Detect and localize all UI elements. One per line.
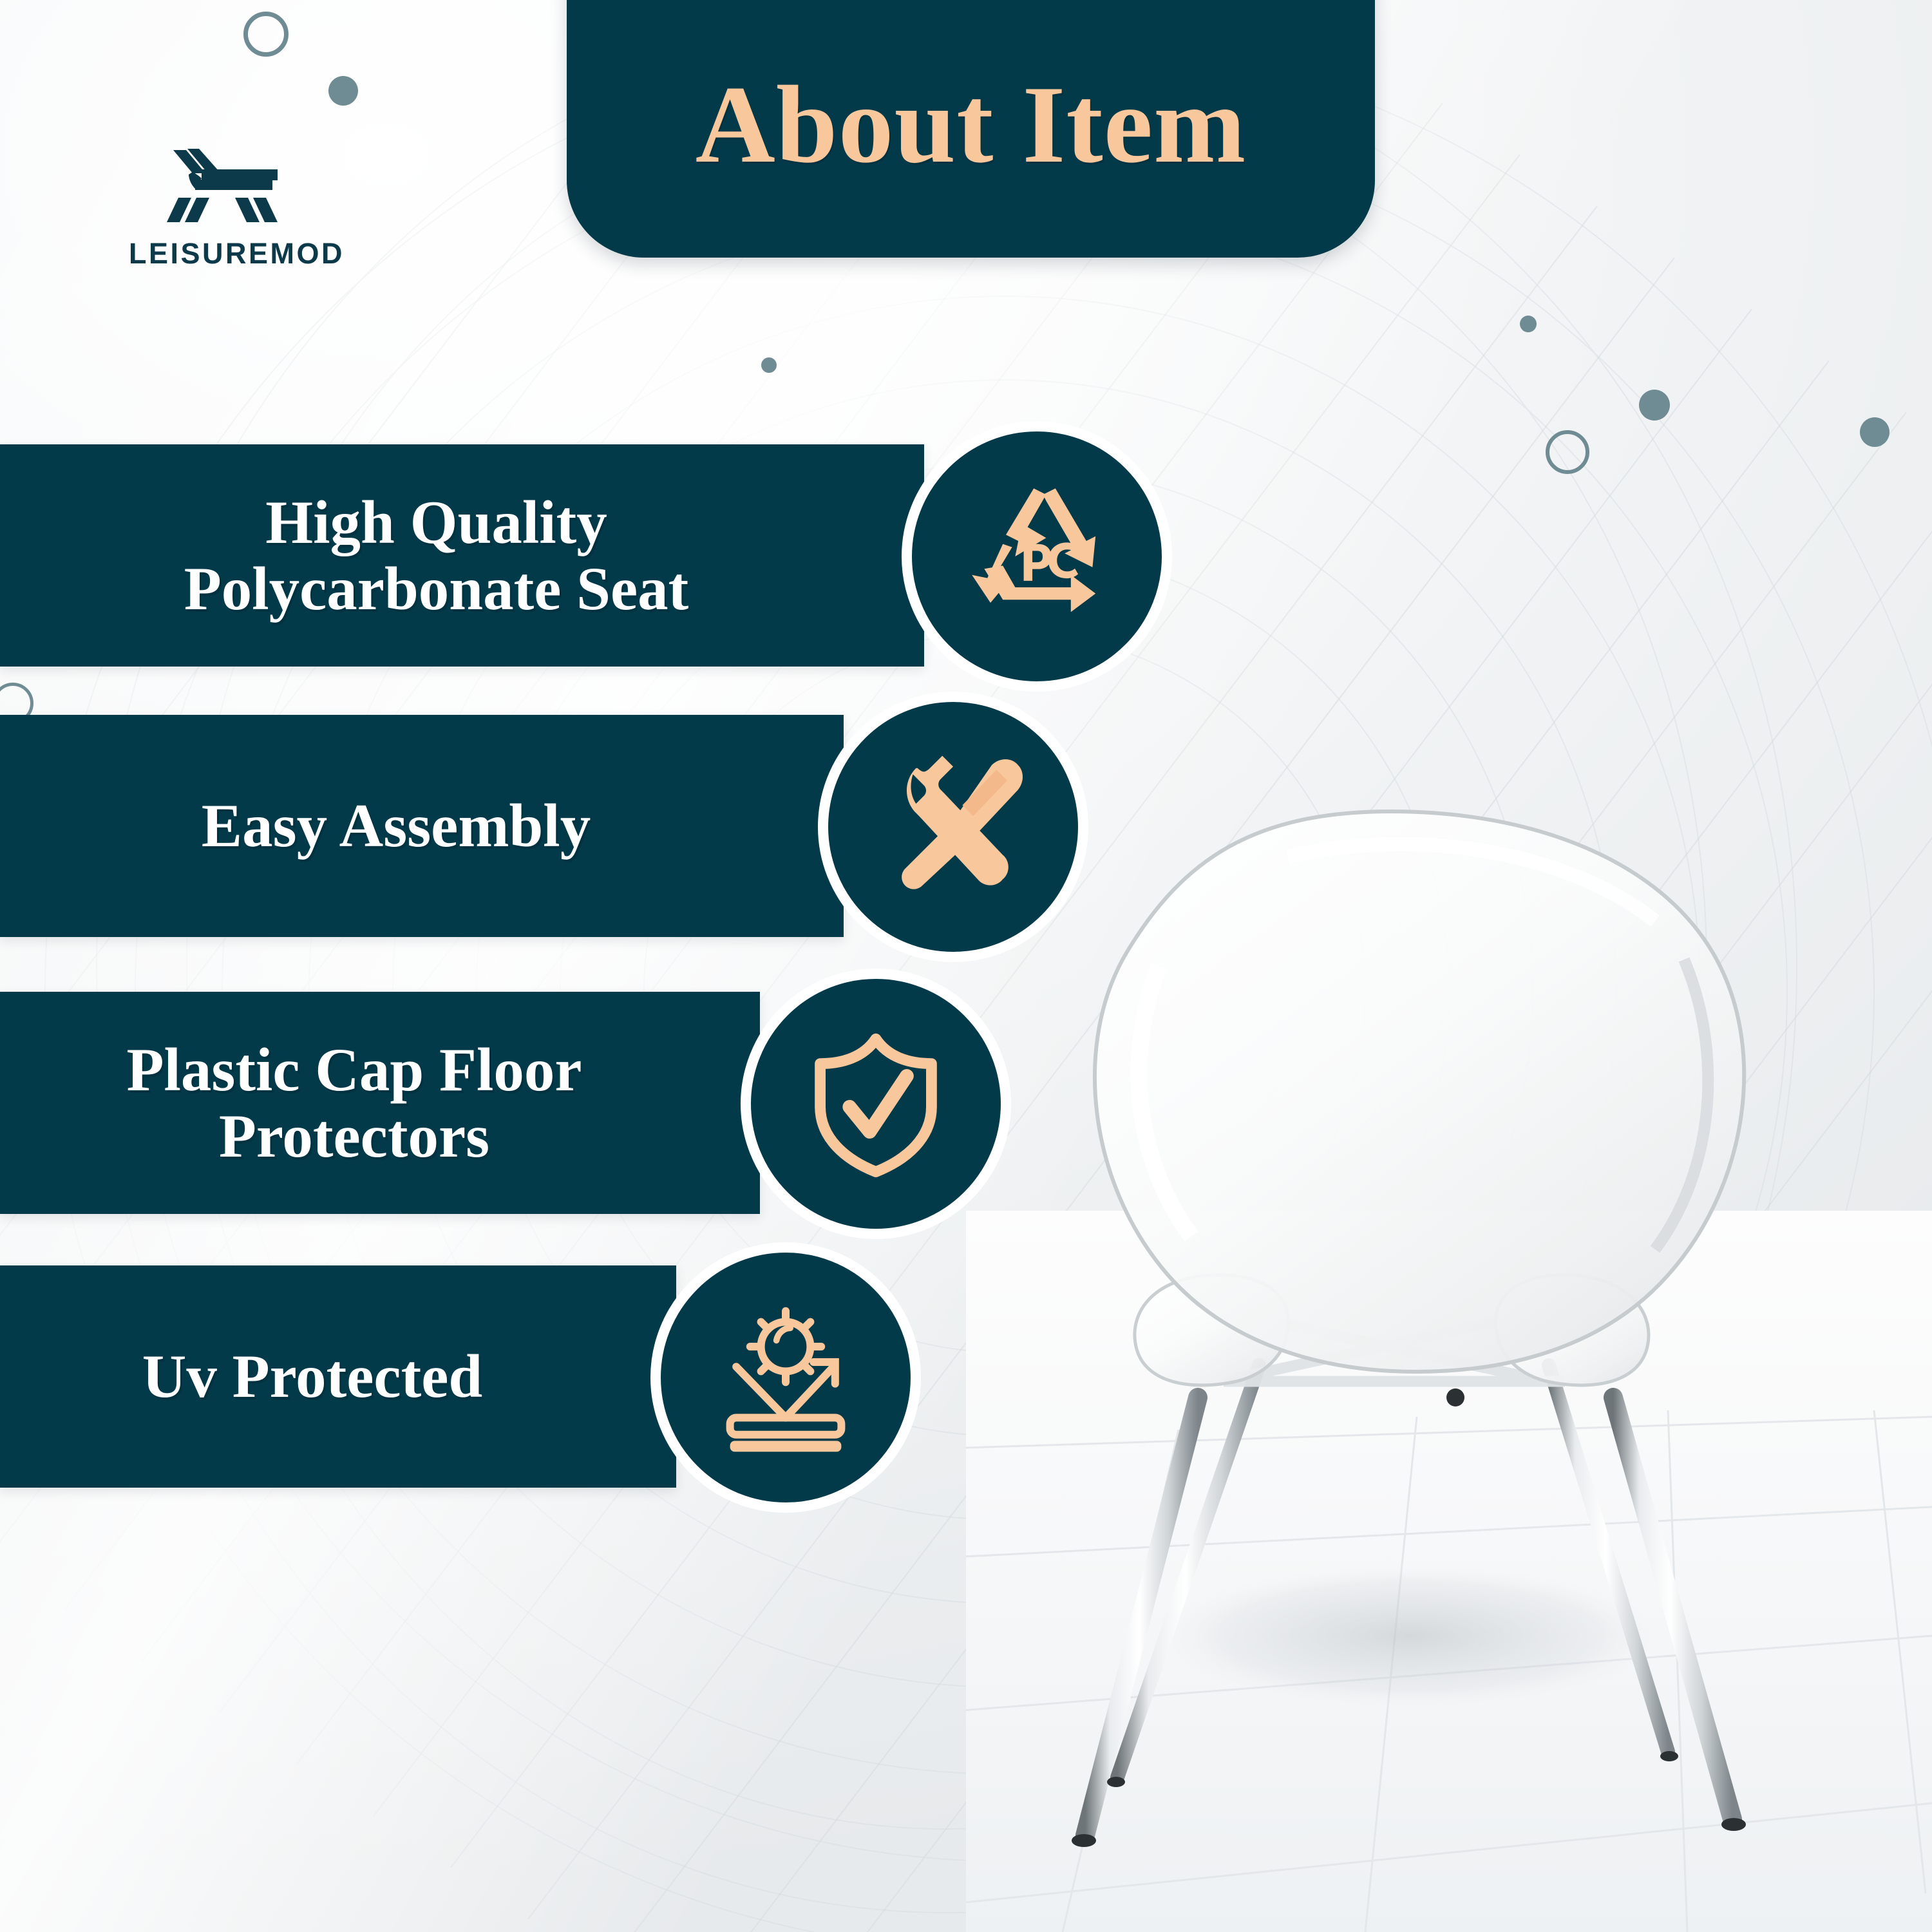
feature-bar-4[interactable]: Uv Protected <box>0 1265 676 1488</box>
feature-label-1-line2: Polycarbonate Seat <box>184 554 689 623</box>
header-banner: About Item <box>567 0 1375 258</box>
decor-dot-3 <box>1520 316 1537 332</box>
product-photo <box>966 799 1932 1932</box>
decor-dot-5 <box>1860 417 1889 447</box>
feature-badge-3[interactable] <box>741 969 1011 1239</box>
pc-recycle-triangle-icon <box>960 479 1114 634</box>
page-title: About Item <box>696 52 1247 180</box>
feature-label-3-line2: Protectors <box>219 1102 489 1170</box>
uv-sun-reflect-icon <box>708 1300 863 1455</box>
feature-label-2: Easy Assembly <box>0 793 844 859</box>
brand-name: LEISUREMOD <box>129 237 322 270</box>
feature-badge-2[interactable] <box>818 692 1088 962</box>
feature-label-2-line1: Easy Assembly <box>202 791 591 860</box>
feature-badge-4[interactable] <box>650 1242 921 1513</box>
poster-canvas: About Item LEISUREMOD High Quality Polyc… <box>0 0 1932 1932</box>
decor-ring-2 <box>1546 430 1589 474</box>
feature-label-1-line1: High Quality <box>265 488 607 556</box>
chaise-lounge-chair-icon <box>164 145 287 225</box>
feature-label-3: Plastic Cap Floor Protectors <box>0 1037 760 1169</box>
feature-label-4: Uv Protected <box>0 1343 676 1410</box>
feature-bar-1[interactable]: High Quality Polycarbonate Seat <box>0 444 924 667</box>
decor-dot-4 <box>1639 390 1670 421</box>
decor-ring-1 <box>243 12 289 57</box>
decor-dot-2 <box>761 357 777 373</box>
feature-bar-2[interactable]: Easy Assembly <box>0 715 844 937</box>
feature-label-1: High Quality Polycarbonate Seat <box>0 489 924 621</box>
brand-logo[interactable]: LEISUREMOD <box>129 145 322 270</box>
feature-badge-1[interactable] <box>902 421 1172 692</box>
wrench-screwdriver-icon <box>876 750 1030 904</box>
feature-label-3-line1: Plastic Cap Floor <box>126 1036 582 1104</box>
feature-label-4-line1: Uv Protected <box>142 1342 482 1410</box>
feature-bar-3[interactable]: Plastic Cap Floor Protectors <box>0 992 760 1214</box>
floor-protector-cap <box>1072 1834 1096 1847</box>
shield-check-icon <box>799 1027 953 1181</box>
decor-dot-1 <box>328 76 358 106</box>
floor-protector-cap <box>1721 1818 1746 1831</box>
